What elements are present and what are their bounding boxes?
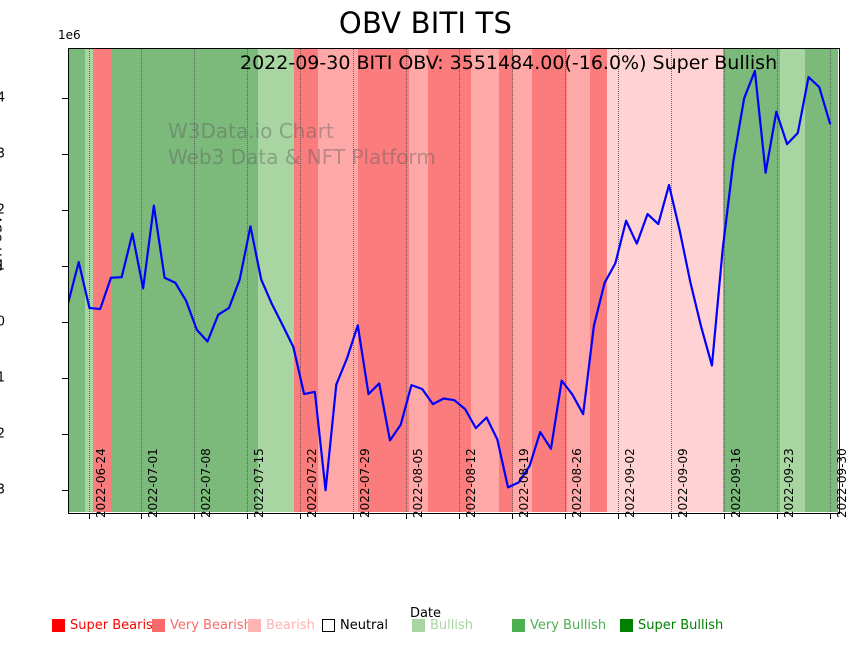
x-tick-mark xyxy=(194,513,195,519)
x-tick-label: 2022-09-23 xyxy=(782,448,796,518)
x-tick-mark xyxy=(406,513,407,519)
chart-figure: OBV BITI TS 1e6 BITI OBV Date W3Data.io … xyxy=(0,0,851,646)
y-tick-label: −2 xyxy=(0,426,5,441)
legend-swatch-icon xyxy=(322,619,335,632)
x-tick-mark xyxy=(724,513,725,519)
x-tick-mark xyxy=(512,513,513,519)
legend-swatch-icon xyxy=(152,619,165,632)
latest-value-annotation: 2022-09-30 BITI OBV: 3551484.00(-16.0%) … xyxy=(240,52,777,74)
y-tick-label: 0 xyxy=(0,314,5,329)
y-tick-mark xyxy=(62,378,68,379)
y-tick-label: 1 xyxy=(0,259,5,274)
x-tick-label: 2022-07-29 xyxy=(358,448,372,518)
x-tick-label: 2022-07-15 xyxy=(252,448,266,518)
plot-area: W3Data.io Chart Web3 Data & NFT Platform xyxy=(68,48,838,512)
legend-item-neutral[interactable]: Neutral xyxy=(322,618,388,633)
legend-label: Bullish xyxy=(430,618,473,633)
legend-label: Neutral xyxy=(340,618,388,633)
page-title: OBV BITI TS xyxy=(0,6,851,40)
series-polyline xyxy=(68,71,830,490)
x-tick-label: 2022-09-30 xyxy=(835,448,849,518)
x-tick-mark xyxy=(618,513,619,519)
x-tick-mark xyxy=(247,513,248,519)
x-tick-mark xyxy=(89,513,90,519)
legend-swatch-icon xyxy=(512,619,525,632)
x-tick-label: 2022-07-22 xyxy=(305,448,319,518)
x-tick-label: 2022-07-01 xyxy=(146,448,160,518)
x-tick-mark xyxy=(565,513,566,519)
legend-item-bullish[interactable]: Bullish xyxy=(412,618,473,633)
y-tick-label: −3 xyxy=(0,482,5,497)
x-tick-mark xyxy=(353,513,354,519)
legend-label: Super Bearish xyxy=(70,618,161,633)
x-tick-mark xyxy=(141,513,142,519)
x-tick-label: 2022-08-05 xyxy=(411,448,425,518)
x-tick-label: 2022-07-08 xyxy=(199,448,213,518)
legend-swatch-icon xyxy=(620,619,633,632)
y-tick-label: 2 xyxy=(0,203,5,218)
legend-label: Bearish xyxy=(266,618,315,633)
x-tick-mark xyxy=(671,513,672,519)
legend-swatch-icon xyxy=(248,619,261,632)
y-tick-mark xyxy=(62,434,68,435)
x-tick-mark xyxy=(777,513,778,519)
y-tick-mark xyxy=(62,98,68,99)
y-tick-label: 4 xyxy=(0,91,5,106)
y-axis-offset-label: 1e6 xyxy=(58,28,81,42)
x-tick-mark xyxy=(300,513,301,519)
x-tick-mark xyxy=(830,513,831,519)
y-tick-mark xyxy=(62,490,68,491)
x-tick-label: 2022-09-09 xyxy=(676,448,690,518)
y-tick-mark xyxy=(62,210,68,211)
legend: Super BearishVery BearishBearishNeutralB… xyxy=(0,618,851,642)
legend-label: Very Bearish xyxy=(170,618,252,633)
x-tick-label: 2022-09-02 xyxy=(623,448,637,518)
y-tick-mark xyxy=(62,154,68,155)
y-tick-label: −1 xyxy=(0,370,5,385)
y-tick-mark xyxy=(62,322,68,323)
x-tick-label: 2022-06-24 xyxy=(94,448,108,518)
legend-label: Very Bullish xyxy=(530,618,606,633)
legend-item-bearish[interactable]: Bearish xyxy=(248,618,315,633)
x-tick-label: 2022-08-19 xyxy=(517,448,531,518)
legend-item-very-bearish[interactable]: Very Bearish xyxy=(152,618,252,633)
x-tick-label: 2022-08-26 xyxy=(570,448,584,518)
x-tick-label: 2022-09-16 xyxy=(729,448,743,518)
x-tick-label: 2022-08-12 xyxy=(464,448,478,518)
obv-line-series xyxy=(68,48,838,512)
legend-label: Super Bullish xyxy=(638,618,723,633)
legend-item-super-bullish[interactable]: Super Bullish xyxy=(620,618,723,633)
legend-swatch-icon xyxy=(412,619,425,632)
y-tick-mark xyxy=(62,266,68,267)
x-tick-mark xyxy=(459,513,460,519)
y-tick-label: 3 xyxy=(0,147,5,162)
legend-swatch-icon xyxy=(52,619,65,632)
legend-item-very-bullish[interactable]: Very Bullish xyxy=(512,618,606,633)
legend-item-super-bearish[interactable]: Super Bearish xyxy=(52,618,161,633)
